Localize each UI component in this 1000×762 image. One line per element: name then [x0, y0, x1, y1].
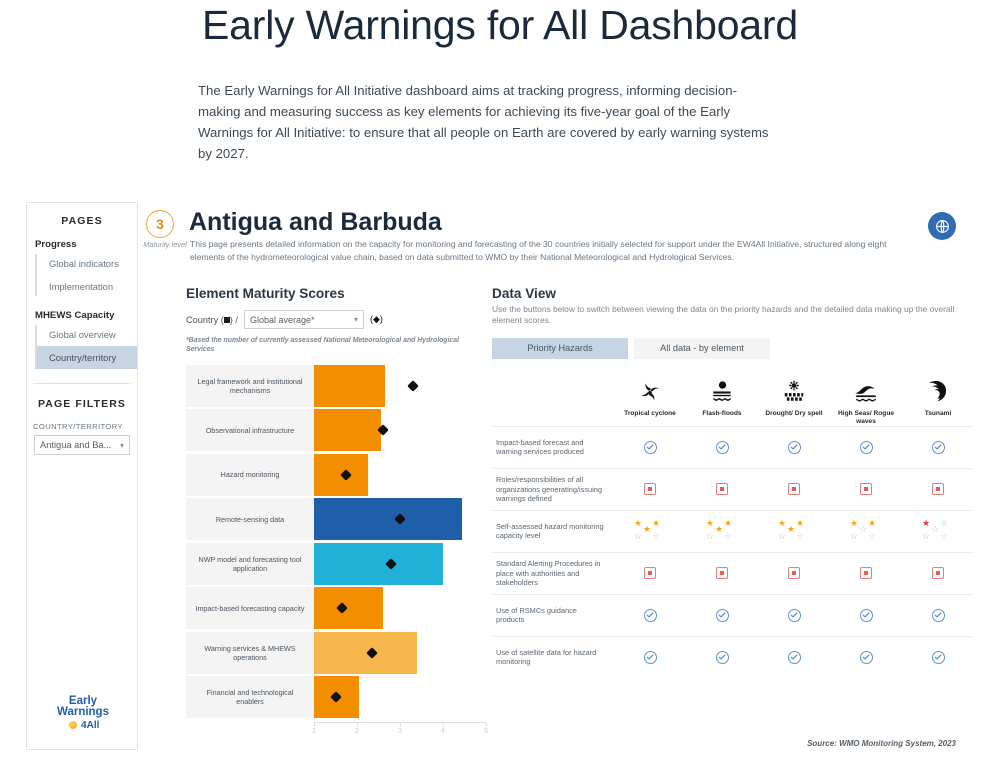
sidebar-pages-heading: PAGES — [27, 203, 137, 227]
not-available-icon — [716, 483, 728, 495]
matrix-row-label: Standard Alerting Procedures in place wi… — [492, 553, 614, 594]
element-maturity-bar-chart: Legal framework and institutional mechan… — [186, 364, 486, 744]
matrix-cell: ★★☆☆☆ — [830, 519, 902, 543]
star-empty-icon: ☆ — [778, 532, 786, 541]
hazard-header-row: Tropical cycloneFlash-floodsDrought/ Dry… — [492, 373, 974, 426]
country-filter-value: Antigua and Ba... — [40, 440, 111, 450]
matrix-cell — [686, 567, 758, 579]
page-intro-text: The Early Warnings for All Initiative da… — [198, 80, 778, 164]
hazard-column-label: Flash-floods — [686, 410, 758, 418]
matrix-cell — [902, 441, 974, 454]
star-filled-icon: ★ — [715, 525, 723, 534]
chart-average-diamond-marker — [407, 380, 419, 392]
flash-floods-icon — [686, 373, 758, 405]
chart-bar-fill[interactable] — [314, 409, 381, 451]
chart-bar-row: Remote-sensing data — [186, 497, 486, 542]
star-filled-icon: ★ — [706, 519, 714, 528]
chart-bar-track — [314, 632, 486, 674]
maturity-level-caption: Maturity level — [142, 240, 188, 249]
chart-bar-fill[interactable] — [314, 498, 462, 540]
sidebar-item-implementation[interactable]: Implementation — [35, 275, 137, 298]
matrix-cell — [614, 567, 686, 579]
data-view-subtitle: Use the buttons below to switch between … — [492, 304, 974, 327]
hazard-column-header: Tsunami — [902, 373, 974, 426]
matrix-cell — [830, 651, 902, 664]
logo-line-2: Warnings — [27, 707, 139, 718]
chart-bar-track — [314, 676, 486, 718]
high-seas-rogue-waves-icon — [830, 373, 902, 405]
star-empty-icon: ☆ — [850, 532, 858, 541]
star-rating: ★★☆☆☆ — [849, 519, 883, 543]
chart-bar-track — [314, 409, 486, 451]
matrix-row: Roles/responsibilities of all organizati… — [492, 468, 974, 510]
not-available-icon — [860, 567, 872, 579]
matrix-cell: ★★★☆☆ — [686, 519, 758, 543]
chart-bar-fill[interactable] — [314, 543, 443, 585]
chart-bar-label: Observational infrastructure — [186, 409, 314, 451]
maturity-level-badge: 3 — [146, 210, 174, 238]
sidebar-item-country-territory[interactable]: Country/territory — [35, 346, 137, 369]
sidebar-subitems-mhews: Global overview Country/territory — [27, 323, 137, 369]
comparison-dropdown[interactable]: Global average* ▾ — [244, 310, 364, 329]
chart-x-axis: 12345 — [314, 722, 486, 742]
axis-tick — [314, 723, 315, 727]
drought-dry-spell-icon — [758, 373, 830, 405]
logo-line-3: 4All — [81, 720, 99, 731]
country-filter-select[interactable]: Antigua and Ba... ▾ — [34, 435, 130, 455]
matrix-cell — [830, 441, 902, 454]
chevron-down-icon: ▾ — [120, 441, 124, 450]
chart-bar-row: NWP model and forecasting tool applicati… — [186, 542, 486, 587]
axis-tick — [357, 723, 358, 727]
hazard-column-header: High Seas/ Rogue waves — [830, 373, 902, 426]
matrix-cell — [614, 651, 686, 664]
country-filter-label: COUNTRY/TERRITORY — [27, 410, 137, 435]
star-filled-icon: ★ — [724, 519, 732, 528]
matrix-row: Self-assessed hazard monitoring capacity… — [492, 510, 974, 552]
chart-bar-label: Legal framework and institutional mechan… — [186, 365, 314, 407]
globe-network-icon[interactable] — [928, 212, 956, 240]
matrix-cell — [758, 483, 830, 495]
hazard-column-header: Drought/ Dry spell — [758, 373, 830, 426]
star-filled-icon: ★ — [652, 519, 660, 528]
chart-bar-track — [314, 498, 486, 540]
check-circle-icon — [644, 651, 657, 664]
matrix-row-label: Roles/responsibilities of all organizati… — [492, 469, 614, 510]
axis-tick-label: 1 — [312, 728, 316, 735]
data-view-toggle-group: Priority Hazards All data - by element — [492, 338, 974, 359]
star-empty-icon: ☆ — [706, 532, 714, 541]
hazard-column-label: Tropical cyclone — [614, 410, 686, 418]
matrix-cell — [758, 651, 830, 664]
check-circle-icon — [788, 651, 801, 664]
tsunami-icon — [902, 373, 974, 405]
star-filled-icon: ★ — [922, 519, 930, 528]
country-marker-label: Country () / — [186, 315, 238, 325]
star-empty-icon: ☆ — [868, 532, 876, 541]
matrix-cell — [830, 483, 902, 495]
not-available-icon — [932, 567, 944, 579]
check-circle-icon — [932, 441, 945, 454]
not-available-icon — [788, 483, 800, 495]
axis-tick-label: 3 — [398, 728, 402, 735]
tropical-cyclone-icon — [614, 373, 686, 405]
star-empty-icon: ☆ — [859, 525, 867, 534]
matrix-cell — [830, 609, 902, 622]
matrix-cell — [758, 567, 830, 579]
country-title: Antigua and Barbuda — [189, 208, 442, 237]
source-note: Source: WMO Monitoring System, 2023 — [807, 739, 956, 748]
check-circle-icon — [932, 609, 945, 622]
check-circle-icon — [716, 441, 729, 454]
not-available-icon — [644, 567, 656, 579]
matrix-corner-spacer — [492, 373, 614, 426]
not-available-icon — [788, 567, 800, 579]
tab-priority-hazards[interactable]: Priority Hazards — [492, 338, 628, 359]
axis-tick-label: 2 — [355, 728, 359, 735]
star-filled-icon: ★ — [787, 525, 795, 534]
comparison-dropdown-value: Global average* — [250, 315, 315, 325]
check-circle-icon — [644, 609, 657, 622]
data-view-title: Data View — [492, 286, 974, 301]
matrix-cell: ★★★☆☆ — [614, 519, 686, 543]
hazard-column-header: Tropical cyclone — [614, 373, 686, 426]
axis-tick-label: 4 — [441, 728, 445, 735]
chevron-down-icon: ▾ — [354, 315, 358, 324]
element-maturity-panel: Element Maturity Scores Country () / Glo… — [186, 286, 486, 744]
not-available-icon — [932, 483, 944, 495]
tab-all-data-by-element[interactable]: All data - by element — [634, 338, 770, 359]
star-filled-icon: ★ — [796, 519, 804, 528]
chart-bar-label: Warning services & MHEWS operations — [186, 632, 314, 674]
check-circle-icon — [860, 651, 873, 664]
hazard-column-label: Tsunami — [902, 410, 974, 418]
matrix-cell — [686, 441, 758, 454]
matrix-cell — [614, 483, 686, 495]
chart-bar-label: NWP model and forecasting tool applicati… — [186, 543, 314, 585]
star-empty-icon: ☆ — [796, 532, 804, 541]
matrix-cell — [614, 609, 686, 622]
matrix-cell — [902, 483, 974, 495]
axis-tick — [443, 723, 444, 727]
axis-tick — [400, 723, 401, 727]
check-circle-icon — [788, 609, 801, 622]
sidebar-filters-heading: PAGE FILTERS — [27, 384, 137, 410]
axis-tick-label: 5 — [484, 728, 488, 735]
star-empty-icon: ☆ — [940, 532, 948, 541]
sidebar-item-global-overview[interactable]: Global overview — [35, 323, 137, 346]
star-empty-icon: ☆ — [931, 525, 939, 534]
matrix-cell: ★☆☆☆☆ — [902, 519, 974, 543]
chart-bar-track — [314, 454, 486, 496]
matrix-row-label: Use of RSMCs guidance products — [492, 600, 614, 631]
element-maturity-title: Element Maturity Scores — [186, 286, 486, 301]
star-empty-icon: ☆ — [922, 532, 930, 541]
check-circle-icon — [860, 441, 873, 454]
chart-footnote: *Based the number of currently assessed … — [186, 336, 486, 355]
matrix-cell — [686, 651, 758, 664]
star-filled-icon: ★ — [634, 519, 642, 528]
matrix-cell — [686, 609, 758, 622]
hazard-column-label: Drought/ Dry spell — [758, 410, 830, 418]
sidebar-item-global-indicators[interactable]: Global indicators — [35, 252, 137, 275]
matrix-cell — [830, 567, 902, 579]
matrix-cell — [758, 609, 830, 622]
star-rating: ★★★☆☆ — [633, 519, 667, 543]
matrix-cell — [758, 441, 830, 454]
chart-bar-row: Impact-based forecasting capacity — [186, 586, 486, 631]
check-circle-icon — [716, 651, 729, 664]
priority-hazards-matrix: Tropical cycloneFlash-floodsDrought/ Dry… — [492, 373, 974, 678]
chart-bar-row: Financial and technological enablers — [186, 675, 486, 720]
sidebar-group-mhews-capacity: MHEWS Capacity — [27, 298, 137, 323]
main-content: 3 Maturity level Antigua and Barbuda Thi… — [146, 202, 974, 750]
star-rating: ★★★☆☆ — [777, 519, 811, 543]
chart-bar-track — [314, 543, 486, 585]
early-warnings-for-all-logo: Early Warnings 4All — [27, 696, 139, 731]
chart-bar-track — [314, 365, 486, 407]
matrix-row: Use of RSMCs guidance products — [492, 594, 974, 636]
star-filled-icon: ★ — [850, 519, 858, 528]
comparison-selector-row: Country () / Global average* ▾ (◆) — [186, 310, 486, 329]
not-available-icon — [644, 483, 656, 495]
star-filled-icon: ★ — [868, 519, 876, 528]
matrix-cell — [686, 483, 758, 495]
diamond-marker-legend: (◆) — [370, 314, 383, 325]
matrix-cell: ★★★☆☆ — [758, 519, 830, 543]
matrix-row-label: Impact-based forecast and warning servic… — [492, 432, 614, 463]
star-empty-icon: ☆ — [634, 532, 642, 541]
chart-bar-row: Observational infrastructure — [186, 408, 486, 453]
hazard-column-label: High Seas/ Rogue waves — [830, 410, 902, 426]
matrix-cell — [902, 567, 974, 579]
matrix-row: Use of satellite data for hazard monitor… — [492, 636, 974, 678]
not-available-icon — [860, 483, 872, 495]
check-circle-icon — [788, 441, 801, 454]
chart-bar-fill[interactable] — [314, 365, 385, 407]
chart-bar-track — [314, 587, 486, 629]
star-empty-icon: ☆ — [724, 532, 732, 541]
star-filled-icon: ★ — [643, 525, 651, 534]
dashboard-page: Early Warnings for All Dashboard The Ear… — [0, 0, 1000, 762]
chart-bar-row: Warning services & MHEWS operations — [186, 631, 486, 676]
star-empty-icon: ☆ — [652, 532, 660, 541]
axis-tick — [486, 723, 487, 727]
chart-bar-label: Remote-sensing data — [186, 498, 314, 540]
check-circle-icon — [716, 609, 729, 622]
sidebar: PAGES Progress Global indicators Impleme… — [26, 202, 138, 750]
chart-bar-label: Hazard monitoring — [186, 454, 314, 496]
chart-bar-row: Hazard monitoring — [186, 453, 486, 498]
star-rating: ★★★☆☆ — [705, 519, 739, 543]
chart-bar-label: Financial and technological enablers — [186, 676, 314, 718]
matrix-row-label: Self-assessed hazard monitoring capacity… — [492, 516, 614, 547]
matrix-cell — [614, 441, 686, 454]
check-circle-icon — [644, 441, 657, 454]
sun-dot-icon — [69, 721, 77, 729]
chart-bar-label: Impact-based forecasting capacity — [186, 587, 314, 629]
star-filled-icon: ★ — [778, 519, 786, 528]
sidebar-subitems-progress: Global indicators Implementation — [27, 252, 137, 298]
check-circle-icon — [932, 651, 945, 664]
matrix-row: Impact-based forecast and warning servic… — [492, 426, 974, 468]
data-view-panel: Data View Use the buttons below to switc… — [492, 286, 974, 678]
page-title: Early Warnings for All Dashboard — [0, 2, 1000, 49]
matrix-cell — [902, 609, 974, 622]
sidebar-group-progress: Progress — [27, 227, 137, 252]
chart-bar-row: Legal framework and institutional mechan… — [186, 364, 486, 409]
country-description: This page presents detailed information … — [190, 238, 890, 263]
chart-bar-fill[interactable] — [314, 587, 383, 629]
hazard-column-header: Flash-floods — [686, 373, 758, 426]
check-circle-icon — [860, 609, 873, 622]
star-empty-icon: ☆ — [940, 519, 948, 528]
matrix-cell — [902, 651, 974, 664]
not-available-icon — [716, 567, 728, 579]
matrix-row-label: Use of satellite data for hazard monitor… — [492, 642, 614, 673]
star-rating: ★☆☆☆☆ — [921, 519, 955, 543]
matrix-row: Standard Alerting Procedures in place wi… — [492, 552, 974, 594]
